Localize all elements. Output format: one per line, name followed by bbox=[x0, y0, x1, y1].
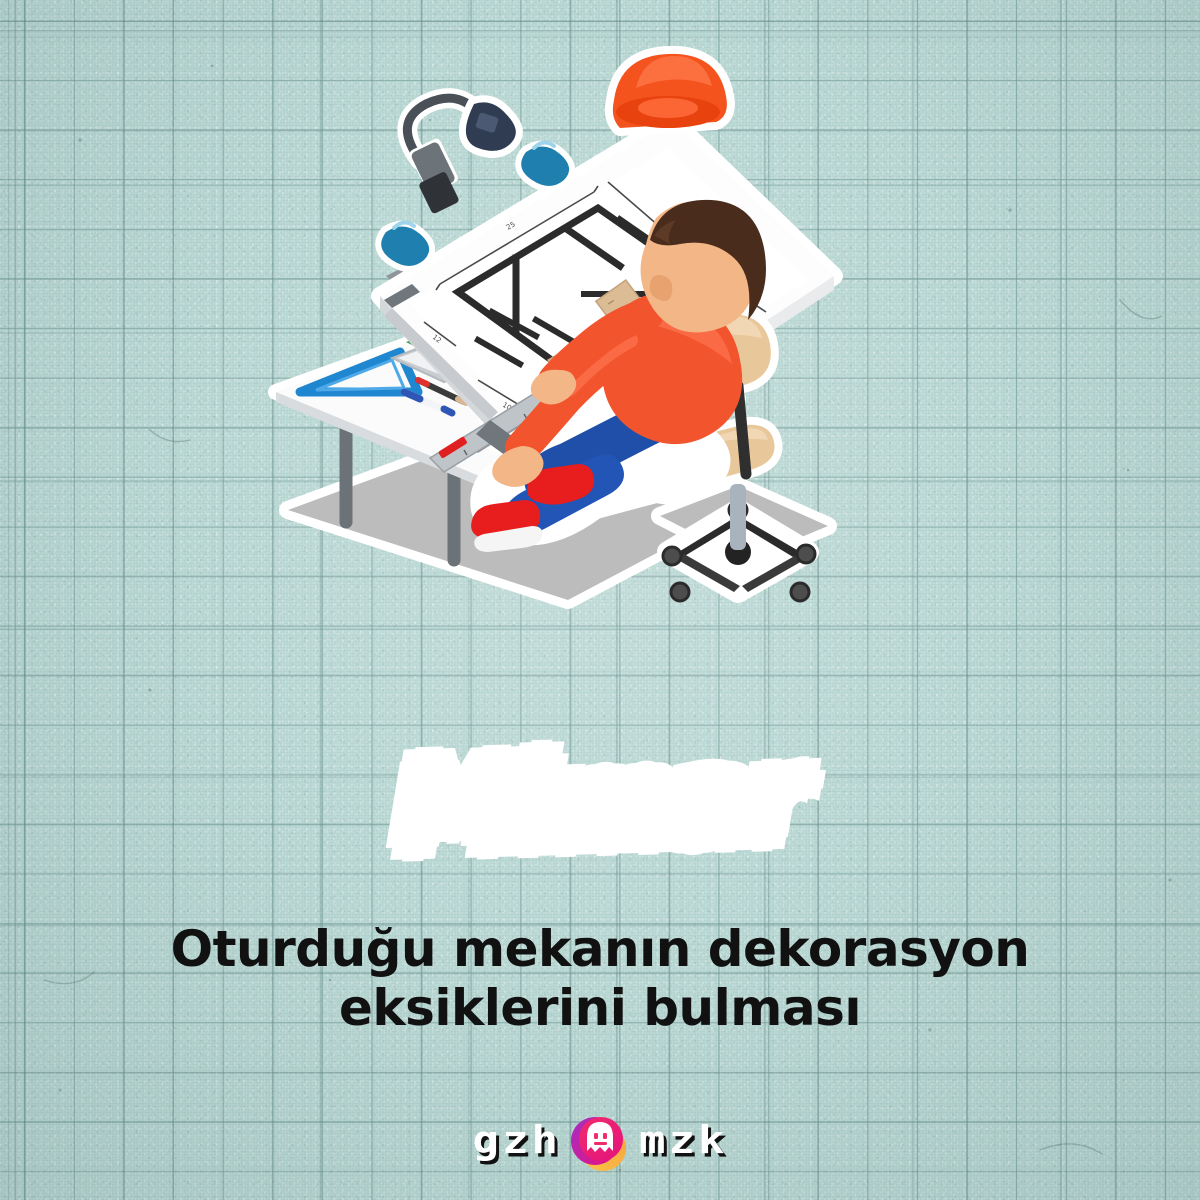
binder-clip-left bbox=[381, 222, 429, 266]
illustration-architect: 25 16 12 10 14 bbox=[268, 40, 868, 680]
subtitle-block: Oturduğu mekanın dekorasyon eksiklerini … bbox=[0, 920, 1200, 1038]
poster-canvas: 25 16 12 10 14 bbox=[0, 0, 1200, 1200]
ghost-icon bbox=[567, 1108, 633, 1174]
desk-lamp bbox=[407, 98, 515, 214]
subtitle-line-2: eksiklerini bulması bbox=[0, 979, 1200, 1038]
hard-hat bbox=[613, 54, 727, 128]
person-shoe bbox=[471, 500, 542, 552]
binder-clip-top bbox=[521, 142, 569, 186]
chair-cylinder bbox=[730, 484, 746, 550]
page-title: Mimar bbox=[397, 736, 804, 865]
title-block: MimarMimar bbox=[0, 742, 1200, 912]
brand-logo[interactable]: gzh bbox=[0, 1098, 1200, 1184]
logo-text-left: gzh bbox=[473, 1122, 561, 1160]
subtitle-line-1: Oturduğu mekanın dekorasyon bbox=[0, 920, 1200, 979]
page-title-shadow: Mimar bbox=[0, 736, 405, 865]
logo-text-right: mzk bbox=[639, 1122, 727, 1160]
